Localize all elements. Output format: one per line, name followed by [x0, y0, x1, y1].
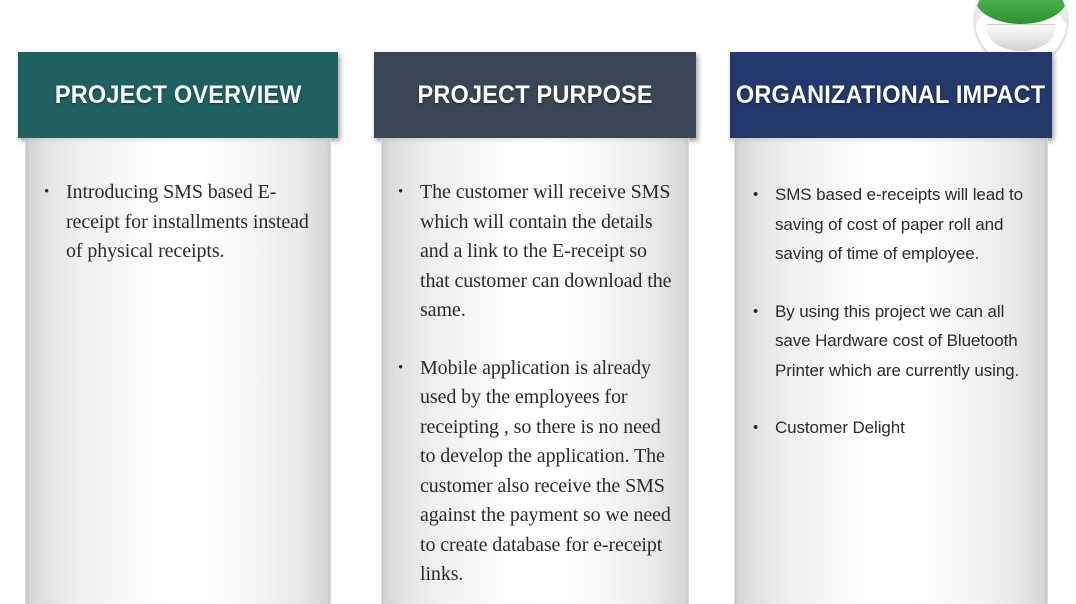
- column-organizational-impact: ORGANIZATIONAL IMPACT • SMS based e-rece…: [730, 52, 1052, 604]
- bullet-text: Mobile application is already used by th…: [420, 354, 680, 590]
- bullet-list: • Introducing SMS based E-receipt for in…: [26, 138, 330, 267]
- column-project-purpose: PROJECT PURPOSE • The customer will rece…: [374, 52, 696, 604]
- column-body-project-overview: • Introducing SMS based E-receipt for in…: [25, 138, 331, 604]
- bullet-dot-icon: •: [753, 180, 775, 210]
- bullet-list: • SMS based e-receipts will lead to savi…: [735, 138, 1047, 443]
- column-title: PROJECT OVERVIEW: [55, 81, 302, 110]
- list-item: • By using this project we can all save …: [753, 297, 1039, 386]
- bullet-dot-icon: •: [753, 297, 775, 327]
- bullet-text: Introducing SMS based E-receipt for inst…: [66, 178, 320, 267]
- bullet-text: Customer Delight: [775, 413, 1039, 443]
- logo-bowl-shape: [987, 24, 1055, 51]
- slide-canvas: BITS PREMIERE LEAGUE PROJECT OVERVIEW • …: [0, 0, 1076, 604]
- column-project-overview: PROJECT OVERVIEW • Introducing SMS based…: [18, 52, 338, 604]
- bullet-dot-icon: •: [44, 178, 66, 207]
- logo-green-arc: [975, 0, 1067, 24]
- bullet-dot-icon: •: [753, 413, 775, 443]
- list-item: • Introducing SMS based E-receipt for in…: [44, 178, 320, 267]
- bullet-text: By using this project we can all save Ha…: [775, 297, 1039, 386]
- bullet-list: • The customer will receive SMS which wi…: [382, 138, 688, 590]
- list-item: • Mobile application is already used by …: [398, 354, 680, 590]
- column-title: ORGANIZATIONAL IMPACT: [736, 81, 1045, 110]
- list-item: • SMS based e-receipts will lead to savi…: [753, 180, 1039, 269]
- bullet-text: The customer will receive SMS which will…: [420, 178, 680, 326]
- column-title: PROJECT PURPOSE: [417, 81, 652, 110]
- bullet-text: SMS based e-receipts will lead to saving…: [775, 180, 1039, 269]
- column-header-project-purpose: PROJECT PURPOSE: [374, 52, 696, 138]
- bullet-dot-icon: •: [398, 178, 420, 207]
- column-header-project-overview: PROJECT OVERVIEW: [18, 52, 338, 138]
- list-item: • The customer will receive SMS which wi…: [398, 178, 680, 326]
- column-body-organizational-impact: • SMS based e-receipts will lead to savi…: [734, 138, 1048, 604]
- column-header-organizational-impact: ORGANIZATIONAL IMPACT: [730, 52, 1052, 138]
- column-body-project-purpose: • The customer will receive SMS which wi…: [381, 138, 689, 604]
- list-item: • Customer Delight: [753, 413, 1039, 443]
- bullet-dot-icon: •: [398, 354, 420, 383]
